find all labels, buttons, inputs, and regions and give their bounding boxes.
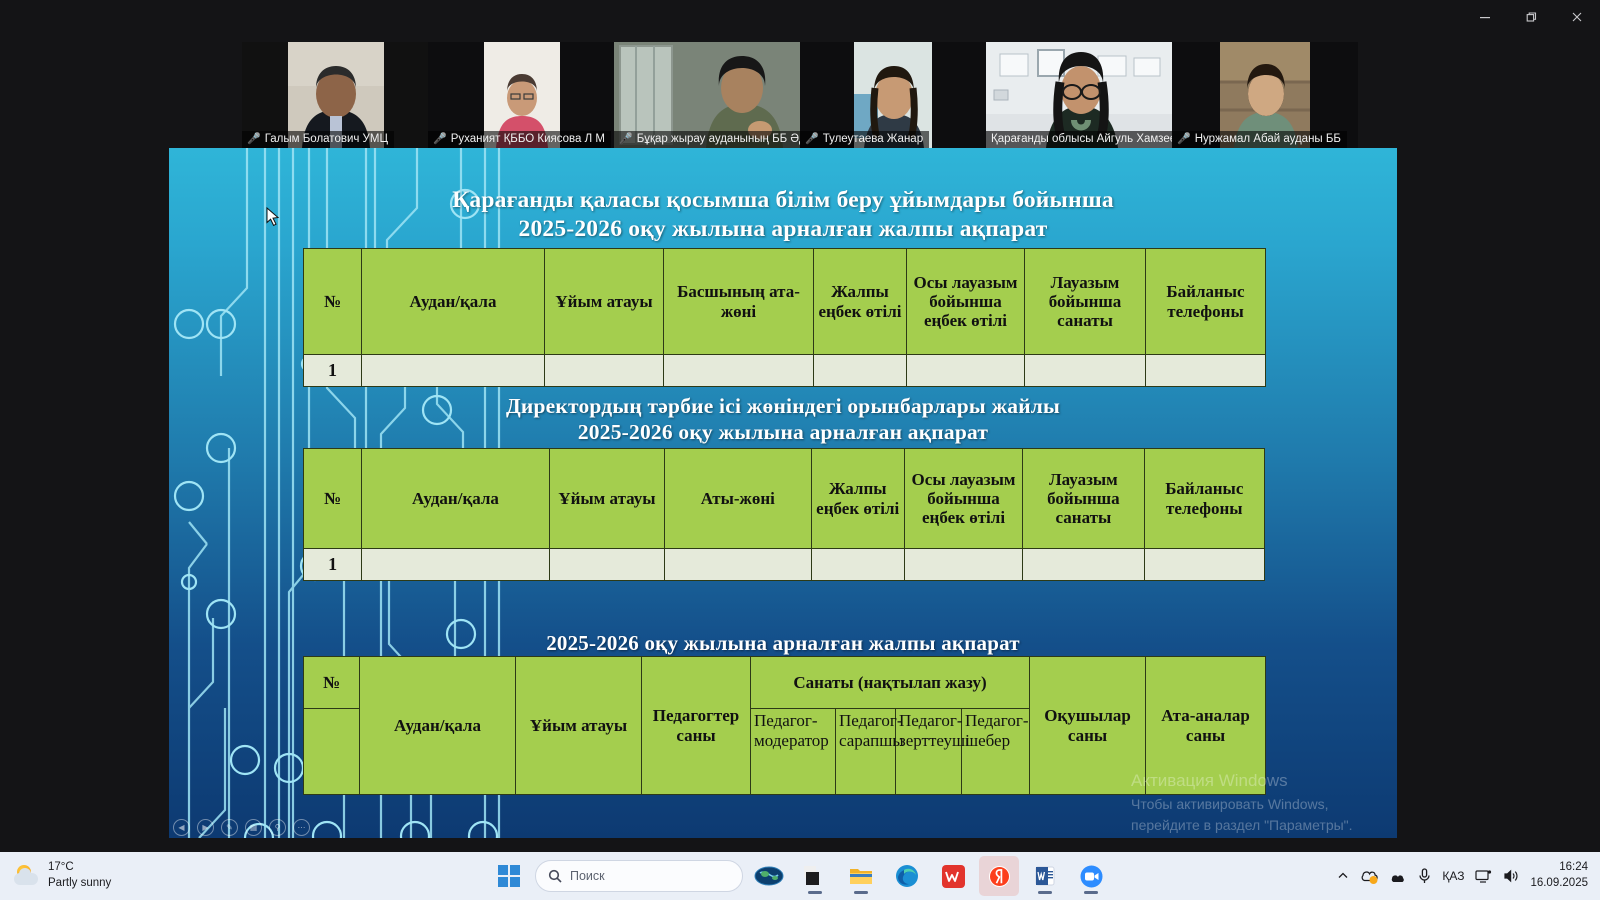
next-slide-icon[interactable]: ▶ (197, 819, 214, 836)
language-indicator[interactable]: ҚАЗ (1442, 869, 1464, 883)
zoom-icon[interactable] (1071, 856, 1111, 896)
column-header: Аудан/қала (360, 657, 516, 795)
column-header: № (304, 249, 362, 355)
table-cell: 1 (304, 355, 362, 387)
partly-sunny-icon (14, 865, 40, 887)
table-cell (1023, 549, 1144, 581)
wps-office-icon[interactable] (933, 856, 973, 896)
table-cell (362, 549, 550, 581)
table-header-row: № Аудан/қала Ұйым атауы Аты-жөні Жалпы е… (304, 449, 1265, 549)
slide-title-2: Директордың тәрбие ісі жөніндегі орынбар… (169, 393, 1397, 445)
clock[interactable]: 16:24 16.09.2025 (1530, 860, 1588, 891)
yandex-browser-icon[interactable] (979, 856, 1019, 896)
table-cell (1144, 549, 1264, 581)
weather-temperature: 17°C (48, 860, 111, 876)
participant-name: Нуржамал Абай ауданы ББ (1195, 133, 1341, 145)
table-cell (1025, 355, 1146, 387)
column-header: № (304, 449, 362, 549)
column-header: Ата-аналар саны (1146, 657, 1266, 795)
edge-icon[interactable] (887, 856, 927, 896)
start-button[interactable] (489, 856, 529, 896)
table-row: 1 (304, 355, 1266, 387)
table-cell (362, 355, 545, 387)
table-row: 1 (304, 549, 1265, 581)
column-header: Жалпы еңбек өтілі (811, 449, 904, 549)
table-deputy-directors: № Аудан/қала Ұйым атауы Аты-жөні Жалпы е… (303, 448, 1265, 581)
column-header: Байланыс телефоны (1146, 249, 1266, 355)
column-header: Байланыс телефоны (1144, 449, 1264, 549)
participant-tile[interactable]: 🎤 Галым Болатович УМЦ (242, 42, 428, 148)
column-header: Ұйым атауы (545, 249, 664, 355)
zoom-in-icon[interactable]: ⚲ (269, 819, 286, 836)
table-cell (811, 549, 904, 581)
maximize-restore-button[interactable] (1508, 0, 1554, 34)
participant-tile[interactable]: 🎤 Бұқар жырау ауданының ББ Әді... (614, 42, 800, 148)
search-placeholder: Поиск (570, 869, 605, 883)
participant-name-bar: Қарағанды облысы Айгуль Хамзее... (986, 131, 1172, 148)
table-organizations: № Аудан/қала Ұйым атауы Басшының ата-жөн… (303, 248, 1266, 387)
column-header: Педагогтер саны (642, 657, 751, 795)
participant-name-bar: 🎤 Тулеутаева Жанар (800, 131, 929, 148)
clock-date: 16.09.2025 (1530, 876, 1588, 892)
slide-title-1-line-2: 2025-2026 оқу жылына арналған жалпы ақпа… (169, 215, 1397, 244)
more-options-icon[interactable]: ⋯ (293, 819, 310, 836)
participant-name-bar: 🎤 Руханият ҚББО Киясова Л М (428, 131, 611, 148)
participant-name-bar: 🎤 Нуржамал Абай ауданы ББ (1172, 131, 1347, 148)
word-icon[interactable] (1025, 856, 1065, 896)
column-subheader: Педагог-шебер (962, 709, 1030, 795)
column-subheader: Педагог-зерттеуші (896, 709, 962, 795)
show-hidden-icons-chevron-icon[interactable] (1337, 870, 1349, 882)
column-header-spacer (304, 709, 360, 795)
weather-widget[interactable]: 17°C Partly sunny (0, 860, 230, 891)
column-header: Лауазым бойынша санаты (1023, 449, 1144, 549)
participant-name: Бұқар жырау ауданының ББ Әді... (637, 133, 800, 145)
close-button[interactable] (1554, 0, 1600, 34)
column-header: Ұйым атауы (549, 449, 664, 549)
window-title-bar (0, 0, 1600, 34)
participant-name: Галым Болатович УМЦ (265, 133, 388, 145)
system-tray: ҚАЗ 16:24 16.09.2025 (1337, 860, 1600, 891)
column-subheader: Педагог-модератор (751, 709, 836, 795)
table-cell: 1 (304, 549, 362, 581)
file-explorer-icon[interactable] (841, 856, 881, 896)
slide-title-1: Қарағанды қаласы қосымша білім беру ұйым… (169, 186, 1397, 243)
column-header: Оқушылар саны (1030, 657, 1146, 795)
column-header: Аудан/қала (362, 449, 550, 549)
column-header: Осы лауазым бойынша еңбек өтілі (904, 449, 1022, 549)
mic-muted-icon: 🎤 (805, 134, 819, 145)
column-header: Аудан/қала (362, 249, 545, 355)
weather-condition: Partly sunny (48, 876, 111, 892)
table-cell (664, 355, 814, 387)
onedrive-sync-icon[interactable] (1360, 868, 1378, 884)
table-cell (665, 549, 811, 581)
table-cell (545, 355, 664, 387)
minimize-button[interactable] (1462, 0, 1508, 34)
participant-video-strip: 🎤 Галым Болатович УМЦ 🎤 Руханият ҚБ (0, 42, 1600, 148)
widgets-globe-icon[interactable] (749, 856, 789, 896)
column-header: № (304, 657, 360, 709)
all-slides-icon[interactable]: ▦ (245, 819, 262, 836)
participant-tile-active-speaker[interactable]: Қарағанды облысы Айгуль Хамзее... (986, 42, 1172, 148)
slide-title-2-line-2: 2025-2026 оқу жылына арналған ақпарат (169, 419, 1397, 445)
slide-title-1-line-1: Қарағанды қаласы қосымша білім беру ұйым… (169, 186, 1397, 215)
participant-name-bar: 🎤 Бұқар жырау ауданының ББ Әді... (614, 131, 800, 148)
slideshow-nav-controls[interactable]: ◀ ▶ ✎ ▦ ⚲ ⋯ (173, 819, 310, 836)
previous-slide-icon[interactable]: ◀ (173, 819, 190, 836)
participant-name: Руханият ҚББО Киясова Л М (451, 133, 605, 145)
task-view-icon[interactable] (795, 856, 835, 896)
cloud-icon[interactable] (1389, 869, 1407, 883)
slide-title-3-line-1: 2025-2026 оқу жылына арналған жалпы ақпа… (169, 631, 1397, 657)
search-input[interactable]: Поиск (535, 860, 743, 892)
table-header-row: № Аудан/қала Ұйым атауы Педагогтер саны … (304, 657, 1266, 709)
table-cell (1146, 355, 1266, 387)
microphone-icon[interactable] (1418, 868, 1431, 884)
participant-tile[interactable]: 🎤 Нуржамал Абай ауданы ББ (1172, 42, 1358, 148)
mic-muted-icon: 🎤 (433, 134, 447, 145)
clock-time: 16:24 (1530, 860, 1588, 876)
column-header: Ұйым атауы (516, 657, 642, 795)
participant-name: Қарағанды облысы Айгуль Хамзее... (991, 133, 1172, 145)
column-header: Лауазым бойынша санаты (1025, 249, 1146, 355)
table-cell (814, 355, 907, 387)
mic-muted-icon: 🎤 (1177, 134, 1191, 145)
table-general-info: № Аудан/қала Ұйым атауы Педагогтер саны … (303, 656, 1266, 795)
slide-title-3: 2025-2026 оқу жылына арналған жалпы ақпа… (169, 631, 1397, 657)
table-cell (904, 549, 1022, 581)
column-header: Жалпы еңбек өтілі (814, 249, 907, 355)
zoom-meeting-window: 🎤 Галым Болатович УМЦ 🎤 Руханият ҚБ (0, 0, 1600, 900)
table-cell (549, 549, 664, 581)
participant-tile[interactable]: 🎤 Руханият ҚББО Киясова Л М (428, 42, 614, 148)
column-header: Басшының ата-жөні (664, 249, 814, 355)
display-settings-icon[interactable] (1475, 869, 1492, 884)
slide-title-2-line-1: Директордың тәрбие ісі жөніндегі орынбар… (169, 393, 1397, 419)
taskbar-center-group: Поиск (489, 856, 1111, 896)
shared-screen-slide: Қарағанды қаласы қосымша білім беру ұйым… (169, 148, 1397, 838)
column-subheader: Педагог-сарапшы (836, 709, 896, 795)
participant-name: Тулеутаева Жанар (823, 133, 923, 145)
volume-icon[interactable] (1503, 869, 1519, 883)
mic-muted-icon: 🎤 (619, 134, 633, 145)
search-icon (548, 869, 562, 883)
participant-tile[interactable]: 🎤 Тулеутаева Жанар (800, 42, 986, 148)
windows-taskbar: 17°C Partly sunny Поиск (0, 852, 1600, 900)
column-header: Осы лауазым бойынша еңбек өтілі (907, 249, 1025, 355)
column-header: Аты-жөні (665, 449, 811, 549)
column-header-group-categories: Санаты (нақтылап жазу) (751, 657, 1030, 709)
table-header-row: № Аудан/қала Ұйым атауы Басшының ата-жөн… (304, 249, 1266, 355)
pen-tool-icon[interactable]: ✎ (221, 819, 238, 836)
table-cell (907, 355, 1025, 387)
mic-muted-icon: 🎤 (247, 134, 261, 145)
participant-name-bar: 🎤 Галым Болатович УМЦ (242, 131, 394, 148)
